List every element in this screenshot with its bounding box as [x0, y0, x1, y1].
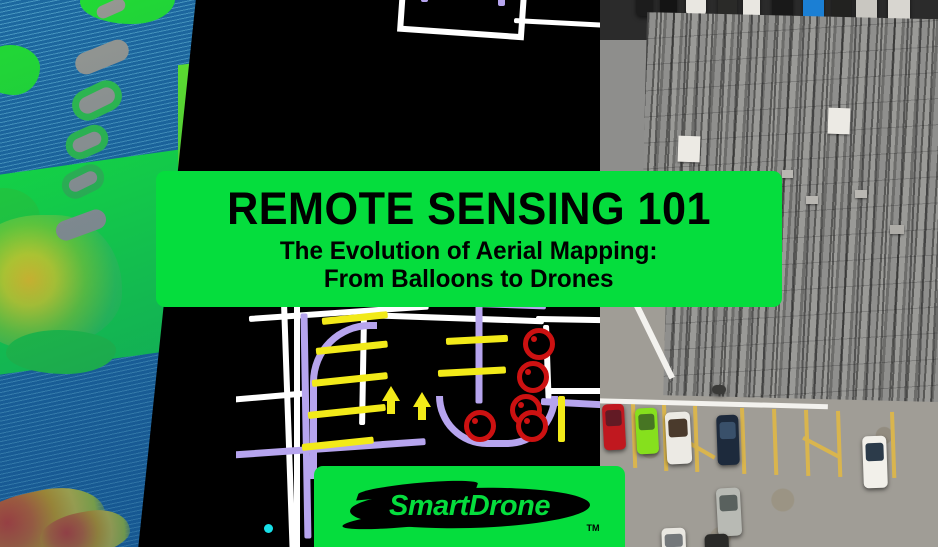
cad-edge-line [498, 0, 505, 6]
cad-edge-line [421, 0, 428, 2]
cad-parking-stall [558, 396, 565, 442]
ortho-parked-car [716, 415, 740, 466]
slide-canvas: REMOTE SENSING 101 The Evolution of Aeri… [0, 0, 938, 547]
cad-arrow-stem [418, 406, 426, 420]
ortho-roof-vent [806, 196, 818, 204]
ortho-roof-vent [782, 170, 793, 178]
ortho-parked-car [635, 407, 659, 454]
cad-parking-stall [438, 366, 506, 377]
ortho-car-windshield [865, 443, 884, 461]
ortho-parked-car [862, 436, 888, 489]
ortho-car-windshield [668, 419, 688, 438]
cad-feature-marker [517, 361, 549, 393]
cad-curb-line [294, 305, 300, 547]
cad-feature-marker [523, 328, 555, 360]
cad-survey-point [264, 524, 273, 533]
ortho-parked-car [602, 403, 626, 450]
ortho-roof-vent [890, 225, 904, 234]
logo-wordmark: SmartDrone [344, 487, 596, 525]
cad-feature-marker [464, 410, 496, 442]
ortho-roof-vent [855, 190, 867, 198]
logo-trademark-symbol: TM [587, 523, 600, 533]
ortho-skylight [678, 136, 701, 163]
ortho-parked-car [665, 411, 693, 464]
cad-arrow-stem [387, 400, 395, 414]
cad-edge-line [476, 306, 483, 404]
page-subtitle: The Evolution of Aerial Mapping: From Ba… [280, 237, 658, 293]
cad-curb-line [364, 312, 544, 324]
ortho-parked-car [716, 487, 742, 536]
ortho-parked-car [704, 534, 729, 547]
ortho-car-windshield [638, 414, 656, 430]
brand-logo: SmartDrone TM [344, 479, 596, 535]
brand-logo-box[interactable]: SmartDrone TM [314, 466, 625, 547]
cad-building-footprint [397, 0, 530, 40]
logo-word-drone: Drone [469, 490, 550, 522]
ortho-roof-debris [712, 385, 726, 394]
cad-direction-arrow [382, 386, 400, 401]
page-subtitle-line-1: The Evolution of Aerial Mapping: [280, 237, 658, 265]
cad-direction-arrow [413, 392, 431, 407]
page-subtitle-line-2: From Balloons to Drones [280, 265, 658, 293]
cad-feature-marker [516, 410, 548, 442]
title-banner: REMOTE SENSING 101 The Evolution of Aeri… [156, 171, 782, 307]
ortho-car-windshield [664, 533, 683, 547]
ortho-car-windshield [605, 410, 623, 426]
ortho-car-windshield [719, 494, 738, 511]
page-title: REMOTE SENSING 101 [227, 186, 711, 231]
ortho-skylight [828, 108, 851, 135]
logo-word-smart: Smart [389, 490, 469, 522]
ortho-parked-car [661, 528, 686, 547]
ortho-car-windshield [719, 422, 736, 440]
